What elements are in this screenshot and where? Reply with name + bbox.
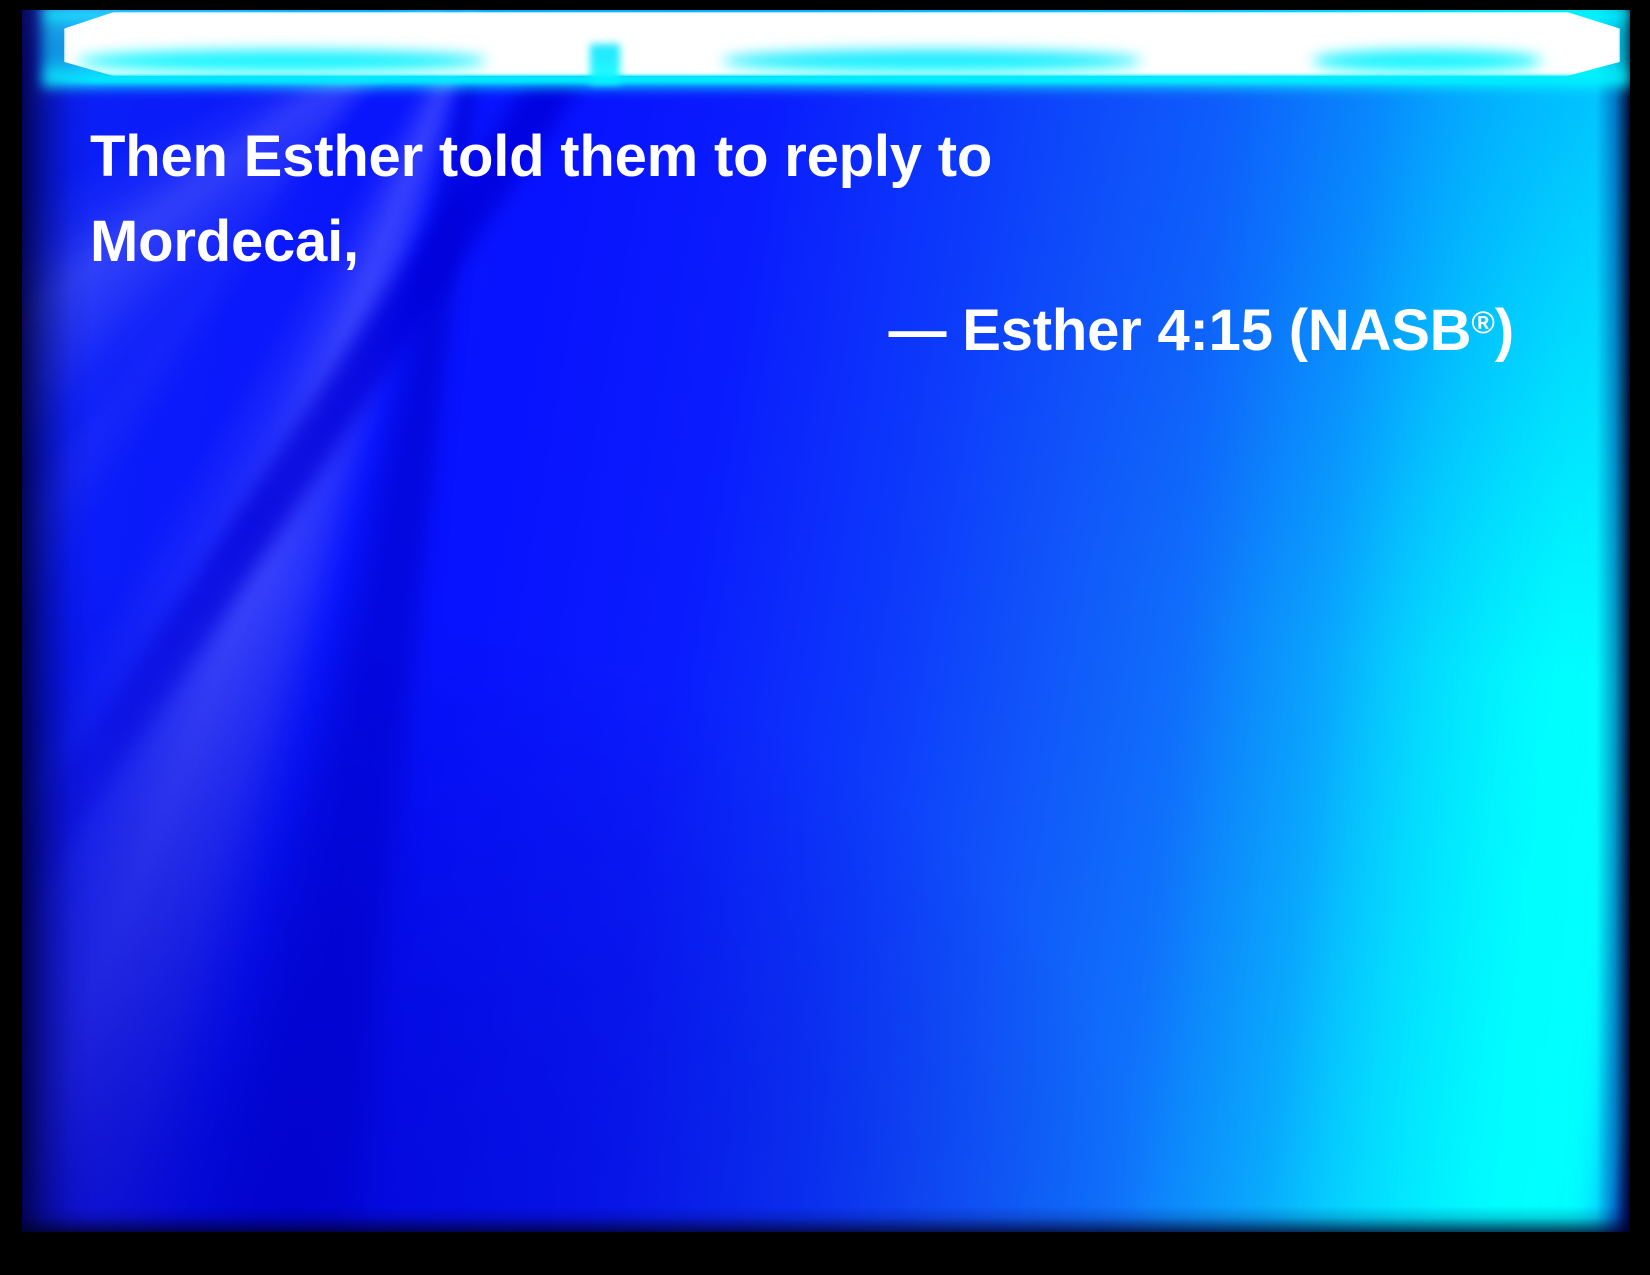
top-banner [22, 10, 1630, 88]
slide-canvas: Then Esther told them to reply to Mordec… [22, 10, 1630, 1232]
left-edge-shadow [22, 10, 92, 1232]
citation-dash: — [889, 298, 947, 363]
right-edge-shadow [1596, 10, 1630, 1232]
verse-text: Then Esther told them to reply to Mordec… [90, 114, 1290, 285]
verse-citation: — Esther 4:15 (NASB®) [22, 296, 1514, 366]
scripture-slide: Then Esther told them to reply to Mordec… [0, 0, 1650, 1275]
citation-translation-open: (NASB [1289, 298, 1472, 363]
citation-book: Esther [962, 298, 1141, 363]
registered-trademark-icon: ® [1471, 304, 1495, 340]
citation-translation-close: ) [1495, 298, 1514, 363]
banner-underline [48, 76, 1624, 83]
citation-reference: 4:15 [1157, 298, 1272, 363]
bottom-edge-shadow [22, 1206, 1630, 1232]
